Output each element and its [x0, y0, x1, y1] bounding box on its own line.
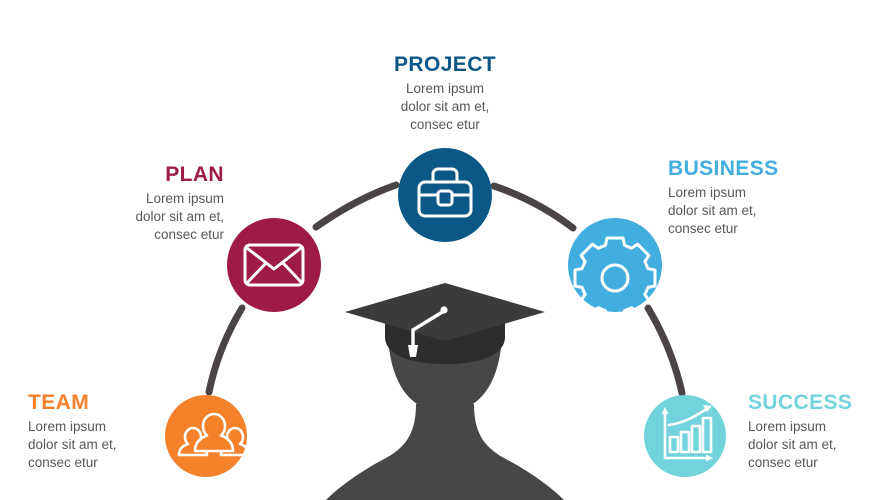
silhouette-body [326, 404, 564, 500]
node-plan[interactable] [227, 218, 321, 312]
label-block-team: TEAM Lorem ipsum dolor sit am et, consec… [28, 392, 224, 473]
node-success-circle[interactable] [644, 395, 726, 477]
label-block-business: BUSINESS Lorem ipsum dolor sit am et, co… [668, 158, 868, 239]
node-project[interactable] [398, 148, 492, 242]
desc-team: Lorem ipsum dolor sit am et, consec etur [28, 418, 224, 473]
connector-business-success [648, 308, 682, 393]
title-business: BUSINESS [668, 158, 868, 180]
infographic-root: PROJECT Lorem ipsum dolor sit am et, con… [0, 0, 889, 500]
desc-success: Lorem ipsum dolor sit am et, consec etur [748, 418, 889, 473]
title-success: SUCCESS [748, 392, 889, 414]
node-plan-circle[interactable] [227, 218, 321, 312]
desc-plan: Lorem ipsum dolor sit am et, consec etur [28, 190, 224, 245]
label-block-plan: PLAN Lorem ipsum dolor sit am et, consec… [28, 164, 224, 245]
node-business[interactable] [568, 218, 662, 318]
label-block-project: PROJECT Lorem ipsum dolor sit am et, con… [354, 54, 536, 135]
title-project: PROJECT [354, 54, 536, 76]
label-block-success: SUCCESS Lorem ipsum dolor sit am et, con… [748, 392, 889, 473]
graduate-silhouette [326, 283, 564, 500]
node-project-circle[interactable] [398, 148, 492, 242]
connector-project-business [494, 186, 573, 228]
title-team: TEAM [28, 392, 224, 414]
connector-plan-team [209, 308, 242, 392]
connector-plan-project [316, 185, 396, 227]
node-success[interactable] [644, 395, 726, 477]
desc-project: Lorem ipsum dolor sit am et, consec etur [354, 80, 536, 135]
desc-business: Lorem ipsum dolor sit am et, consec etur [668, 184, 868, 239]
title-plan: PLAN [28, 164, 224, 186]
